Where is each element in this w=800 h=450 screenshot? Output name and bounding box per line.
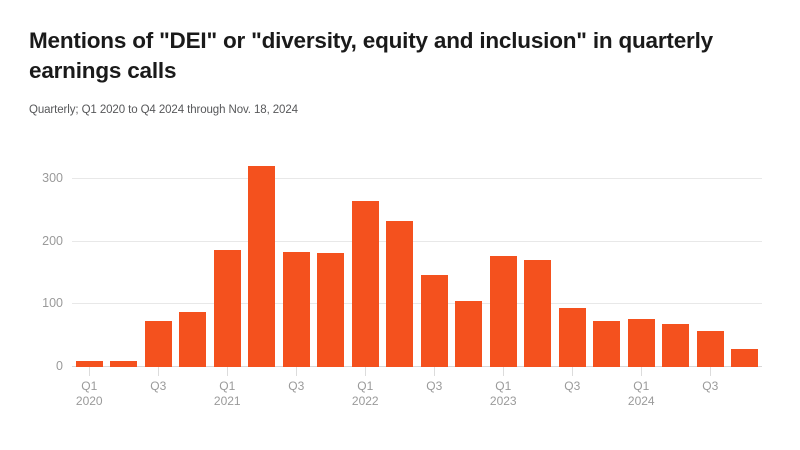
x-axis-tick-mark: [641, 367, 642, 376]
x-axis-quarter-label: Q3: [288, 379, 304, 393]
x-axis-tick-label: Q12024: [628, 379, 655, 409]
x-axis-tick-label: Q3: [288, 379, 304, 394]
bar[interactable]: [524, 260, 551, 367]
bar[interactable]: [455, 301, 482, 367]
bar[interactable]: [386, 221, 413, 367]
x-axis-tick-mark: [158, 367, 159, 376]
bar[interactable]: [248, 166, 275, 367]
plot-area: 0100200300: [72, 160, 762, 367]
x-axis-quarter-label: Q1: [633, 379, 649, 393]
x-axis-tick-mark: [710, 367, 711, 376]
x-axis-tick-mark: [296, 367, 297, 376]
x-axis-tick-mark: [365, 367, 366, 376]
bar[interactable]: [697, 331, 724, 367]
bar[interactable]: [317, 253, 344, 367]
x-axis-tick-label: Q12021: [214, 379, 241, 409]
chart-subtitle: Quarterly; Q1 2020 to Q4 2024 through No…: [29, 86, 773, 117]
x-axis-quarter-label: Q1: [357, 379, 373, 393]
x-axis-tick-mark: [503, 367, 504, 376]
x-axis-tick-label: Q12023: [490, 379, 517, 409]
bar[interactable]: [559, 308, 586, 367]
bar[interactable]: [214, 250, 241, 367]
bar[interactable]: [179, 312, 206, 367]
x-axis-tick-mark: [434, 367, 435, 376]
bar-series: [72, 160, 762, 367]
bar[interactable]: [145, 321, 172, 367]
x-axis-quarter-label: Q3: [150, 379, 166, 393]
bar[interactable]: [283, 252, 310, 367]
bar[interactable]: [731, 349, 758, 367]
x-axis-year-label: 2023: [490, 394, 517, 409]
x-axis-year-label: 2020: [76, 394, 103, 409]
y-axis-tick-label: 300: [42, 171, 63, 185]
x-axis-quarter-label: Q1: [81, 379, 97, 393]
bar[interactable]: [490, 256, 517, 367]
x-axis-quarter-label: Q3: [564, 379, 580, 393]
y-axis-tick-label: 100: [42, 296, 63, 310]
x-axis-tick-label: Q3: [150, 379, 166, 394]
x-axis-tick-label: Q12022: [352, 379, 379, 409]
bar[interactable]: [593, 321, 620, 367]
x-axis-tick-label: Q3: [564, 379, 580, 394]
bar[interactable]: [662, 324, 689, 367]
chart-title: Mentions of "DEI" or "diversity, equity …: [29, 26, 773, 86]
bar[interactable]: [628, 319, 655, 367]
x-axis-quarter-label: Q1: [495, 379, 511, 393]
x-axis-tick-mark: [227, 367, 228, 376]
x-axis-quarter-label: Q3: [702, 379, 718, 393]
bar[interactable]: [352, 201, 379, 367]
x-axis-tick-mark: [572, 367, 573, 376]
x-axis-year-label: 2024: [628, 394, 655, 409]
y-axis-tick-label: 0: [56, 359, 63, 373]
x-axis-tick-label: Q3: [702, 379, 718, 394]
x-axis-year-label: 2022: [352, 394, 379, 409]
chart-figure: Mentions of "DEI" or "diversity, equity …: [0, 0, 800, 450]
x-axis-quarter-label: Q3: [426, 379, 442, 393]
x-axis-tick-mark: [89, 367, 90, 376]
x-axis-tick-label: Q12020: [76, 379, 103, 409]
x-axis-year-label: 2021: [214, 394, 241, 409]
x-axis: Q12020Q3Q12021Q3Q12022Q3Q12023Q3Q12024Q3: [72, 367, 762, 427]
chart-header: Mentions of "DEI" or "diversity, equity …: [29, 26, 773, 117]
x-axis-quarter-label: Q1: [219, 379, 235, 393]
bar[interactable]: [421, 275, 448, 367]
y-axis-tick-label: 200: [42, 234, 63, 248]
x-axis-tick-label: Q3: [426, 379, 442, 394]
